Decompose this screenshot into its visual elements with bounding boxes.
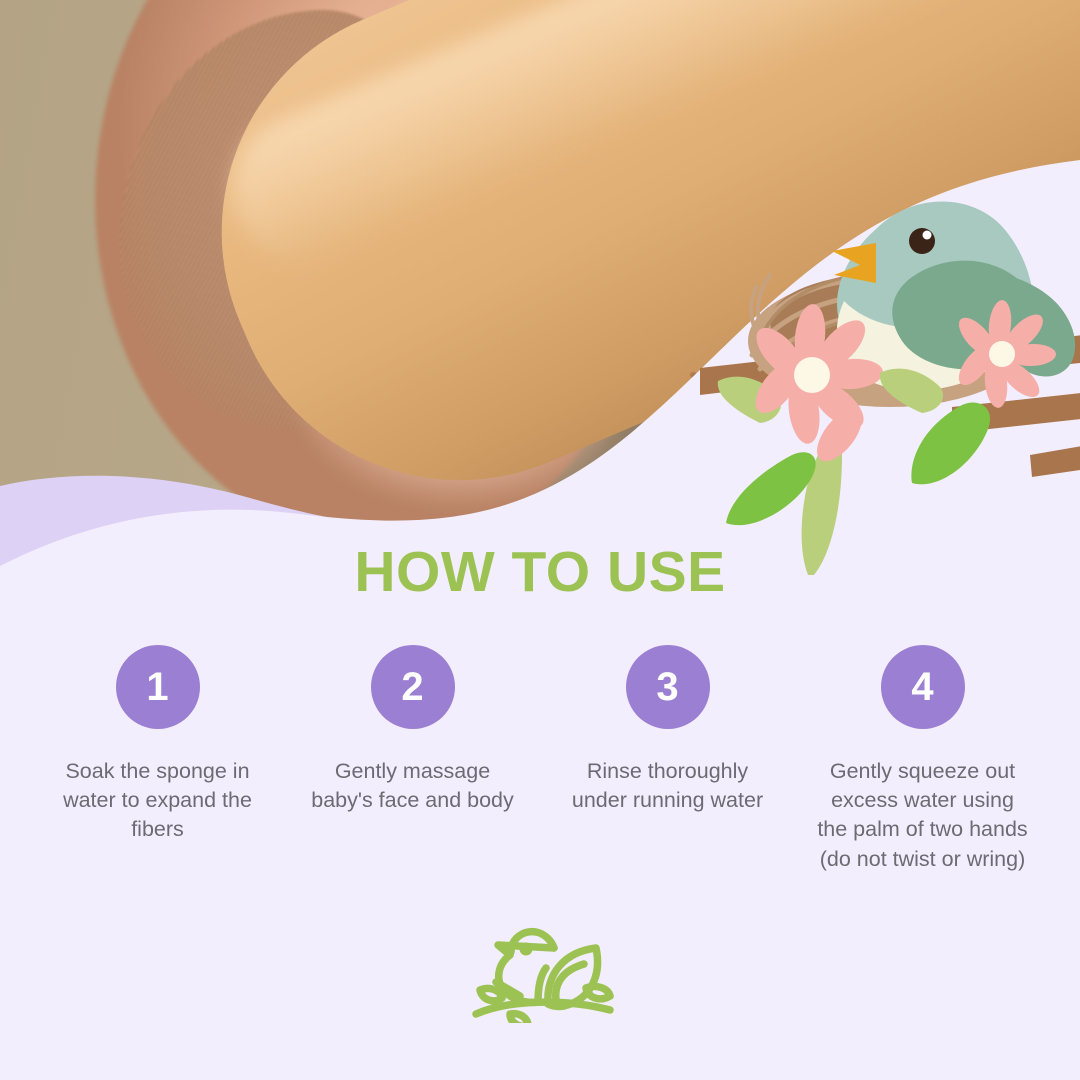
bird-and-leaf-logo: [468, 918, 618, 1023]
step-number-badge-4: 4: [881, 645, 965, 729]
infographic-card: HOW TO USE 1 Soak the sponge in water to…: [0, 0, 1080, 1080]
step-description-2: Gently massage baby's face and body: [305, 757, 520, 815]
step-item-4: 4 Gently squeeze out excess water using …: [795, 645, 1050, 874]
step-description-1: Soak the sponge in water to expand the f…: [50, 757, 265, 845]
step-number-badge-1: 1: [116, 645, 200, 729]
step-item-2: 2 Gently massage baby's face and body: [285, 645, 540, 815]
step-description-3: Rinse thoroughly under running water: [560, 757, 775, 815]
flower-left-icon: [718, 303, 884, 575]
step-item-1: 1 Soak the sponge in water to expand the…: [30, 645, 285, 845]
step-description-4: Gently squeeze out excess water using th…: [815, 757, 1030, 874]
photo-skin-mark: [690, 372, 697, 378]
bird-nest-illustration: [700, 155, 1080, 575]
step-number-badge-2: 2: [371, 645, 455, 729]
page-title: HOW TO USE: [0, 544, 1080, 601]
step-item-3: 3 Rinse thoroughly under running water: [540, 645, 795, 815]
steps-list: 1 Soak the sponge in water to expand the…: [0, 645, 1080, 874]
step-number-badge-3: 3: [626, 645, 710, 729]
